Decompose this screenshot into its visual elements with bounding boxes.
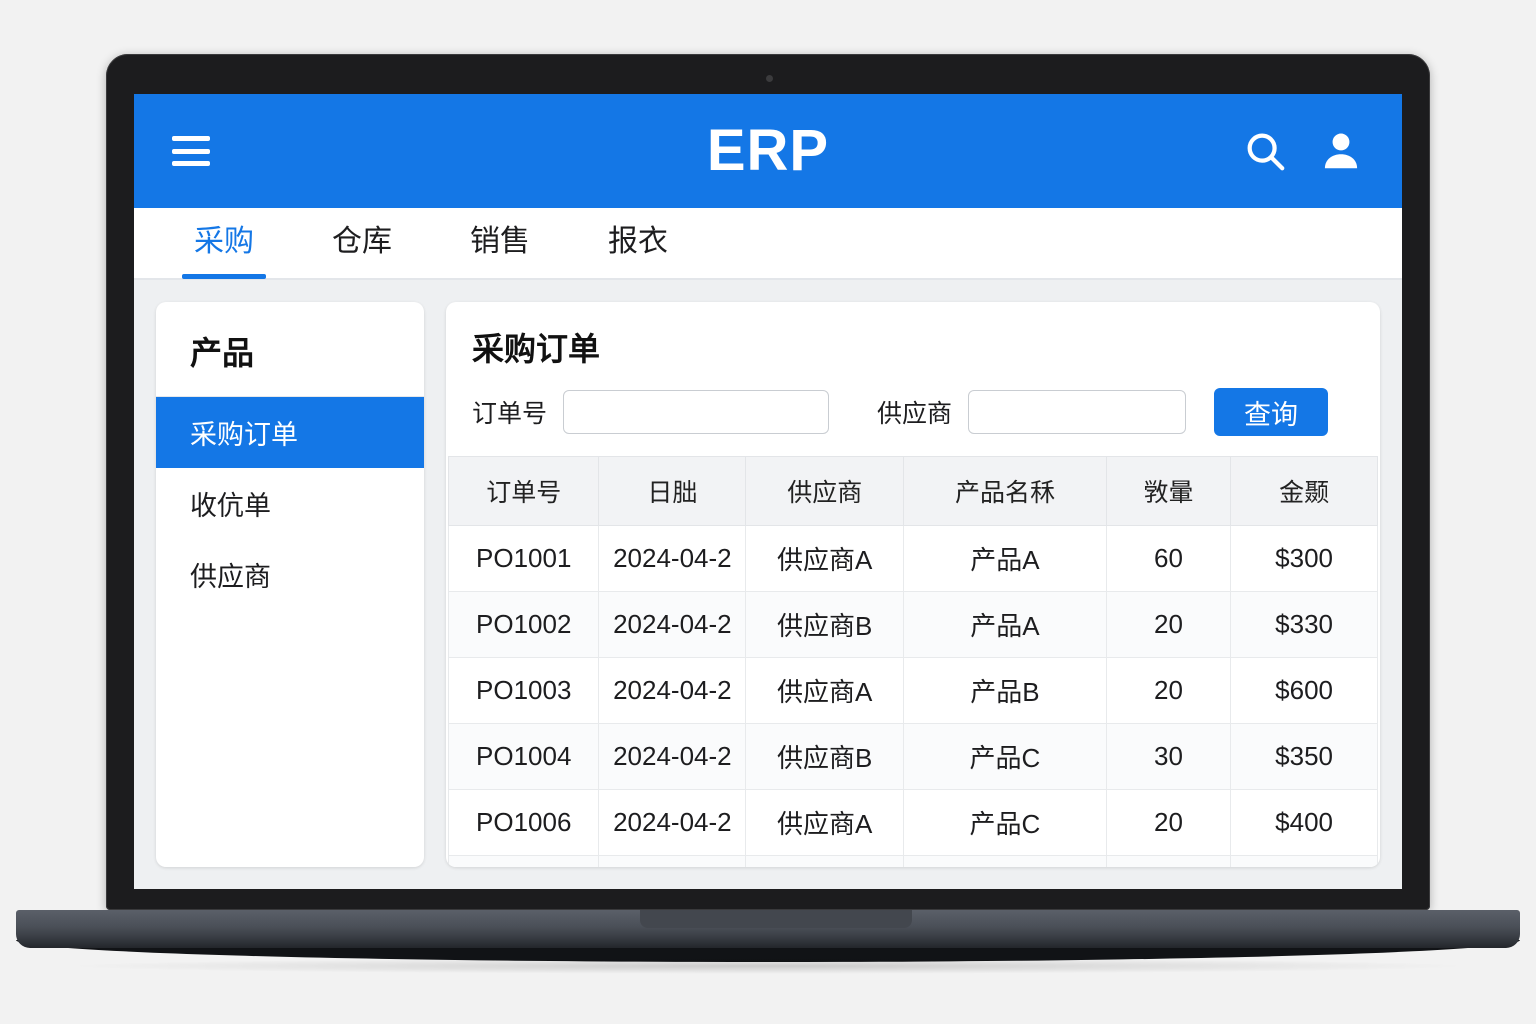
cell-quantity: 20 bbox=[1106, 790, 1230, 856]
cell-product: 产品A bbox=[904, 526, 1107, 592]
user-account-icon[interactable] bbox=[1318, 128, 1364, 174]
table-row[interactable]: PO1002 2024-04-2 供应商B 产品A 20 $330 bbox=[449, 592, 1378, 658]
app-header: ERP bbox=[134, 94, 1402, 208]
column-header-product-name[interactable]: 产品名秝 bbox=[904, 457, 1107, 526]
sidebar: 产品 采购订单 收伉单 供应商 bbox=[156, 302, 424, 867]
cell-supplier: 供应商A bbox=[746, 790, 904, 856]
cell-amount: $360 bbox=[1231, 856, 1378, 868]
cell-date: 2024-04-2 bbox=[599, 790, 746, 856]
cell-order-number: PO1006 bbox=[449, 856, 599, 868]
order-number-input[interactable] bbox=[563, 390, 829, 434]
column-header-supplier[interactable]: 供应商 bbox=[746, 457, 904, 526]
cell-quantity: 60 bbox=[1106, 526, 1230, 592]
sidebar-title: 产品 bbox=[156, 302, 424, 397]
cell-date: 2024-04-2 bbox=[599, 856, 746, 868]
sidebar-item-suppliers[interactable]: 供应商 bbox=[156, 539, 424, 610]
webcam-icon bbox=[766, 75, 773, 82]
laptop-base-notch bbox=[640, 910, 912, 928]
tab-warehouse[interactable]: 仓库 bbox=[320, 207, 404, 279]
cell-quantity: 30 bbox=[1106, 724, 1230, 790]
cell-supplier: 供应商A bbox=[746, 658, 904, 724]
hamburger-bar-1 bbox=[172, 136, 210, 141]
main-panel: 采购订单 订单号 供应商 查询 bbox=[446, 302, 1380, 867]
table-row[interactable]: PO1006 2024-04-2 供应商A 产品C 20 $400 bbox=[449, 790, 1378, 856]
cell-amount: $400 bbox=[1231, 790, 1378, 856]
cell-product: 产品C bbox=[904, 790, 1107, 856]
purchase-orders-table-wrap: 订单号 日朏 供应商 产品名秝 敩暈 金颞 PO1001 202 bbox=[446, 456, 1380, 867]
app-body: 产品 采购订单 收伉单 供应商 采购订单 订单号 供应商 查询 bbox=[134, 280, 1402, 887]
laptop-shadow bbox=[60, 958, 1476, 974]
cell-date: 2024-04-2 bbox=[599, 658, 746, 724]
column-header-order-number[interactable]: 订单号 bbox=[449, 457, 599, 526]
supplier-label: 供应商 bbox=[877, 394, 952, 430]
cell-product: 产品C bbox=[904, 724, 1107, 790]
main-tab-bar: 采购 仓库 销售 报衣 bbox=[134, 208, 1402, 280]
hamburger-bar-3 bbox=[172, 161, 210, 166]
column-header-quantity[interactable]: 敩暈 bbox=[1106, 457, 1230, 526]
cell-amount: $300 bbox=[1231, 526, 1378, 592]
order-number-label: 订单号 bbox=[472, 394, 547, 430]
cell-quantity: 20 bbox=[1106, 592, 1230, 658]
sidebar-item-purchase-orders[interactable]: 采购订单 bbox=[156, 397, 424, 468]
cell-product: 产品C bbox=[904, 856, 1107, 868]
cell-product: 产品B bbox=[904, 658, 1107, 724]
search-icon[interactable] bbox=[1242, 128, 1288, 174]
filter-row: 订单号 供应商 查询 bbox=[472, 388, 1354, 436]
table-header: 订单号 日朏 供应商 产品名秝 敩暈 金颞 bbox=[449, 457, 1378, 526]
cell-order-number: PO1002 bbox=[449, 592, 599, 658]
header-actions bbox=[1242, 128, 1364, 174]
tab-purchasing[interactable]: 采购 bbox=[182, 207, 266, 279]
tab-reports[interactable]: 报衣 bbox=[596, 207, 680, 279]
column-header-date[interactable]: 日朏 bbox=[599, 457, 746, 526]
cell-date: 2024-04-2 bbox=[599, 724, 746, 790]
cell-amount: $330 bbox=[1231, 592, 1378, 658]
cell-amount: $350 bbox=[1231, 724, 1378, 790]
cell-supplier: 供应商B bbox=[746, 592, 904, 658]
cell-supplier: 供应商B bbox=[746, 856, 904, 868]
page-title: 采购订单 bbox=[472, 324, 1354, 370]
table-row[interactable]: PO1004 2024-04-2 供应商B 产品C 30 $350 bbox=[449, 724, 1378, 790]
table-row[interactable]: PO1003 2024-04-2 供应商A 产品B 20 $600 bbox=[449, 658, 1378, 724]
cell-amount: $600 bbox=[1231, 658, 1378, 724]
table-row[interactable]: PO1001 2024-04-2 供应商A 产品A 60 $300 bbox=[449, 526, 1378, 592]
app-title: ERP bbox=[134, 94, 1402, 208]
table-body: PO1001 2024-04-2 供应商A 产品A 60 $300 PO1002… bbox=[449, 526, 1378, 868]
purchase-orders-table: 订单号 日朏 供应商 产品名秝 敩暈 金颞 PO1001 202 bbox=[448, 456, 1378, 867]
hamburger-bar-2 bbox=[172, 149, 210, 154]
supplier-input[interactable] bbox=[968, 390, 1186, 434]
sidebar-item-receiving-notes[interactable]: 收伉单 bbox=[156, 468, 424, 539]
cell-order-number: PO1004 bbox=[449, 724, 599, 790]
table-header-row: 订单号 日朏 供应商 产品名秝 敩暈 金颞 bbox=[449, 457, 1378, 526]
cell-order-number: PO1001 bbox=[449, 526, 599, 592]
laptop-screen: ERP 采购 仓库 销售 bbox=[134, 94, 1402, 889]
cell-order-number: PO1003 bbox=[449, 658, 599, 724]
cell-supplier: 供应商A bbox=[746, 526, 904, 592]
cell-quantity: 30 bbox=[1106, 856, 1230, 868]
cell-supplier: 供应商B bbox=[746, 724, 904, 790]
search-query-button[interactable]: 查询 bbox=[1214, 388, 1328, 436]
cell-date: 2024-04-2 bbox=[599, 526, 746, 592]
panel-header: 采购订单 订单号 供应商 查询 bbox=[446, 302, 1380, 456]
hamburger-menu-icon[interactable] bbox=[172, 136, 210, 166]
screenshot-stage: ERP 采购 仓库 销售 bbox=[0, 0, 1536, 1024]
cell-order-number: PO1006 bbox=[449, 790, 599, 856]
cell-product: 产品A bbox=[904, 592, 1107, 658]
cell-quantity: 20 bbox=[1106, 658, 1230, 724]
tab-sales[interactable]: 销售 bbox=[458, 207, 542, 279]
table-row[interactable]: PO1006 2024-04-2 供应商B 产品C 30 $360 bbox=[449, 856, 1378, 868]
cell-date: 2024-04-2 bbox=[599, 592, 746, 658]
column-header-amount[interactable]: 金颞 bbox=[1231, 457, 1378, 526]
